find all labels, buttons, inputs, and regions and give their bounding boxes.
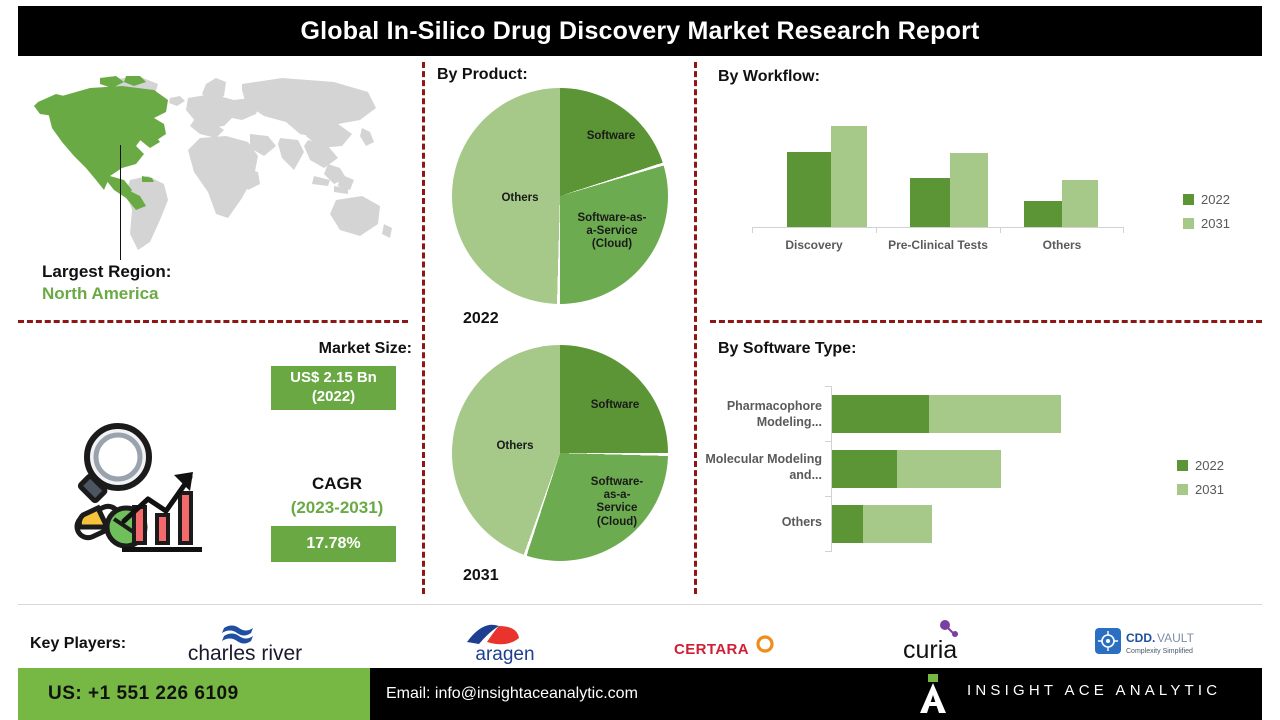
page-title: Global In-Silico Drug Discovery Market R… xyxy=(300,17,979,46)
svg-text:VAULT: VAULT xyxy=(1157,631,1195,645)
market-size-title: Market Size: xyxy=(262,340,412,358)
divider-horizontal-left xyxy=(18,320,408,323)
software-legend: 2022 2031 xyxy=(1177,458,1224,506)
insightace-logo-icon xyxy=(915,674,951,714)
hbar-molecular-2031 xyxy=(897,450,1001,488)
pie-2022-label-software: Software xyxy=(566,130,656,143)
svg-text:aragen: aragen xyxy=(475,644,534,664)
workflow-legend: 2022 2031 xyxy=(1183,192,1230,240)
svg-text:charles river: charles river xyxy=(188,642,302,662)
legend-item-2031: 2031 xyxy=(1183,216,1230,231)
pie-2022-label-saas: Software-as-a-Service(Cloud) xyxy=(560,212,664,252)
software-cat-molecular: Molecular Modeling and... xyxy=(690,452,822,483)
map-pointer-line xyxy=(120,145,121,260)
logo-curia: curia xyxy=(897,618,977,662)
by-workflow-heading: By Workflow: xyxy=(718,68,820,86)
by-software-type-heading: By Software Type: xyxy=(718,340,856,358)
software-cat-others: Others xyxy=(690,515,822,531)
key-players-label: Key Players: xyxy=(30,635,126,653)
legend-label-2022: 2022 xyxy=(1201,192,1230,207)
logo-cdd-vault: CDD. VAULT Complexity Simplified xyxy=(1095,626,1219,658)
pie-2031-label-others: Others xyxy=(470,440,560,453)
software-tick-2 xyxy=(825,441,831,442)
bar-others-2031 xyxy=(1062,180,1098,227)
bar-discovery-2031 xyxy=(831,126,867,227)
svg-text:curia: curia xyxy=(903,636,957,662)
legend-swatch-2022 xyxy=(1183,194,1194,205)
largest-region-label: Largest Region: xyxy=(42,262,302,282)
workflow-tick-3 xyxy=(1000,227,1001,233)
bar-preclinical-2031 xyxy=(950,153,988,227)
legend-label-software-2022: 2022 xyxy=(1195,458,1224,473)
legend-item-software-2022: 2022 xyxy=(1177,458,1224,473)
workflow-tick-1 xyxy=(752,227,753,233)
workflow-tick-4 xyxy=(1123,227,1124,233)
by-product-heading: By Product: xyxy=(437,66,528,84)
cagr-value: 17.78% xyxy=(306,534,360,554)
hbar-molecular-2022 xyxy=(832,450,897,488)
hbar-pharmacophore-2031 xyxy=(929,395,1061,433)
divider-horizontal-right xyxy=(710,320,1262,323)
pie-2022-label-others: Others xyxy=(475,192,565,205)
workflow-cat-others: Others xyxy=(1000,238,1124,252)
workflow-cat-preclinical: Pre-Clinical Tests xyxy=(876,238,1000,252)
market-size-value-box: US$ 2.15 Bn (2022) xyxy=(271,366,396,410)
logo-aragen: aragen xyxy=(455,618,555,664)
svg-text:CDD.: CDD. xyxy=(1126,631,1155,645)
legend-swatch-2031 xyxy=(1183,218,1194,229)
largest-region-block: Largest Region: North America xyxy=(42,262,302,304)
software-tick-4 xyxy=(825,551,831,552)
hbar-pharmacophore-2022 xyxy=(832,395,929,433)
software-tick-3 xyxy=(825,496,831,497)
legend-label-2031: 2031 xyxy=(1201,216,1230,231)
report-title-bar: Global In-Silico Drug Discovery Market R… xyxy=(18,6,1262,56)
cagr-value-box: 17.78% xyxy=(271,526,396,562)
workflow-cat-discovery: Discovery xyxy=(752,238,876,252)
phone-bar[interactable]: US: +1 551 226 6109 xyxy=(18,668,370,720)
pie-2031-label-software: Software xyxy=(570,399,660,412)
email-bar[interactable]: Email: info@insightaceanalytic.com INSIG… xyxy=(370,668,1262,720)
cagr-range: (2023-2031) xyxy=(262,498,412,518)
bar-preclinical-2022 xyxy=(910,178,950,227)
brand-name: INSIGHT ACE ANALYTIC xyxy=(967,682,1221,699)
key-players-separator xyxy=(18,604,1262,605)
research-icon xyxy=(60,415,220,565)
by-workflow-chart xyxy=(752,110,1182,230)
cagr-title: CAGR xyxy=(262,474,412,494)
legend-label-software-2031: 2031 xyxy=(1195,482,1224,497)
infographic-page: Global In-Silico Drug Discovery Market R… xyxy=(0,0,1280,720)
phone-number: US: +1 551 226 6109 xyxy=(48,683,239,705)
hbar-others-2022 xyxy=(832,505,863,543)
market-size-value: US$ 2.15 Bn xyxy=(290,369,377,386)
software-cat-pharmacophore: Pharmacophore Modeling... xyxy=(690,399,822,430)
software-tick-1 xyxy=(825,386,831,387)
logo-certara: CERTARA xyxy=(672,634,776,660)
legend-item-2022: 2022 xyxy=(1183,192,1230,207)
workflow-tick-2 xyxy=(876,227,877,233)
pie-2031-year: 2031 xyxy=(463,567,499,585)
largest-region-value: North America xyxy=(42,284,302,304)
world-map xyxy=(18,72,408,262)
legend-swatch-software-2031 xyxy=(1177,484,1188,495)
workflow-axis xyxy=(752,227,1124,228)
pie-2022-year: 2022 xyxy=(463,310,499,328)
email-address: Email: info@insightaceanalytic.com xyxy=(386,685,638,703)
legend-item-software-2031: 2031 xyxy=(1177,482,1224,497)
pie-2031-label-saas: Software-as-a-Service(Cloud) xyxy=(575,476,659,529)
bar-discovery-2022 xyxy=(787,152,831,227)
hbar-others-2031 xyxy=(863,505,932,543)
svg-text:CERTARA: CERTARA xyxy=(674,641,749,658)
market-size-year: (2022) xyxy=(312,388,355,405)
by-software-type-chart xyxy=(831,386,1131,556)
legend-swatch-software-2022 xyxy=(1177,460,1188,471)
divider-vertical-left xyxy=(422,62,425,594)
svg-text:Complexity Simplified: Complexity Simplified xyxy=(1126,648,1193,655)
bar-others-2022 xyxy=(1024,201,1062,227)
logo-charles-river: charles river xyxy=(176,620,314,662)
